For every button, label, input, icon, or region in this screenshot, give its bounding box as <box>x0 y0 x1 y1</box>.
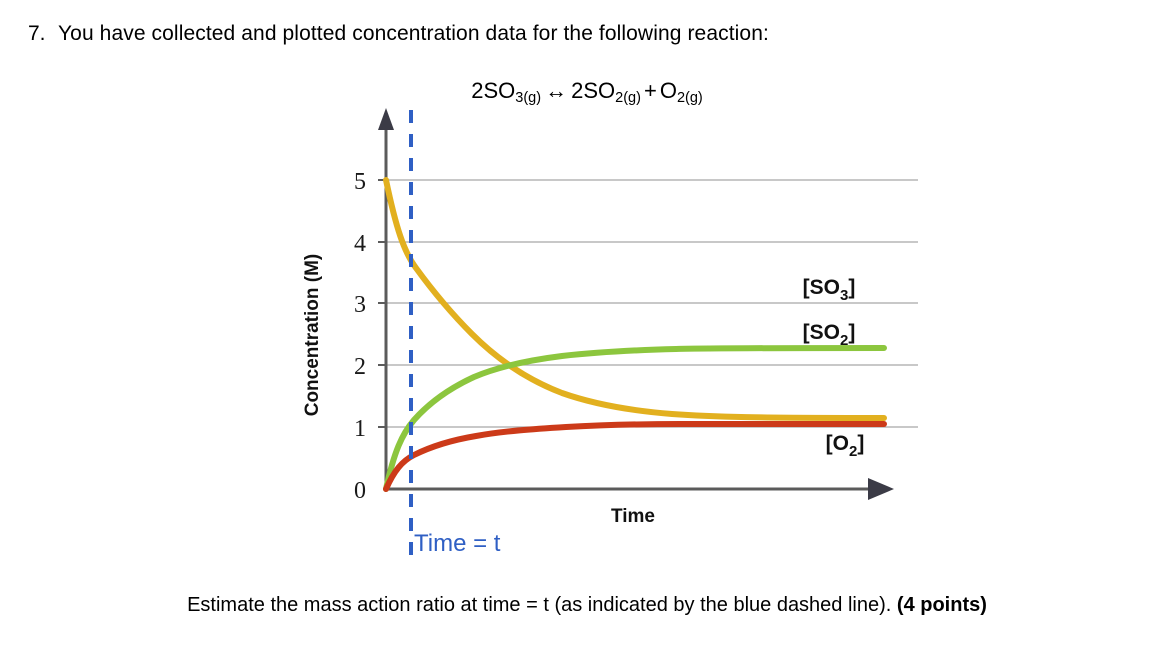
x-axis-arrow-icon <box>868 478 894 500</box>
series-label-so2: [SO2] <box>803 321 856 349</box>
time-t-annotation-label: Time = t <box>414 530 501 557</box>
y-axis-arrow-icon <box>378 108 394 130</box>
y-tick-label-1: 1 <box>354 416 366 442</box>
chart-svg: 5 4 3 2 1 0 Concentration (M) Time [SO3]… <box>0 100 1000 580</box>
points-label: (4 points) <box>897 594 987 616</box>
y-tick-label-0: 0 <box>354 478 366 504</box>
bottom-prompt-text: Estimate the mass action ratio at time =… <box>187 594 891 616</box>
x-axis-title: Time <box>611 506 655 527</box>
question-prompt-text: You have collected and plotted concentra… <box>58 22 769 46</box>
concentration-vs-time-chart: 5 4 3 2 1 0 Concentration (M) Time [SO3]… <box>0 100 1000 580</box>
series-label-so3: [SO3] <box>803 276 856 304</box>
y-tick-label-4: 4 <box>354 231 366 257</box>
bottom-prompt: Estimate the mass action ratio at time =… <box>0 594 1174 617</box>
y-tick-label-3: 3 <box>354 292 366 318</box>
series-label-o2: [O2] <box>826 432 865 460</box>
x-axis <box>386 478 894 500</box>
y-tick-label-5: 5 <box>354 169 366 195</box>
question-number: 7. <box>28 22 58 46</box>
question-header: 7. You have collected and plotted concen… <box>28 22 769 46</box>
y-tick-label-2: 2 <box>354 354 366 380</box>
y-axis <box>378 108 394 489</box>
series-curve-o2 <box>386 424 884 489</box>
gridlines <box>386 180 918 427</box>
y-axis-title: Concentration (M) <box>302 254 323 417</box>
